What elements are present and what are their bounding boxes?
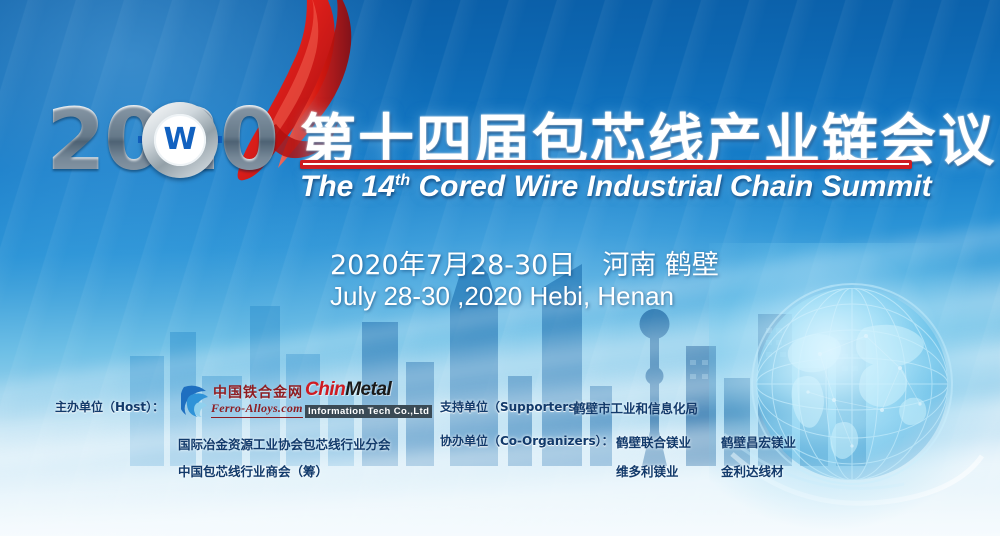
- co-organizer-2: 鹤壁昌宏镁业: [721, 432, 796, 451]
- co-organizer-1: 鹤壁联合镁业: [616, 432, 691, 451]
- co-organizer-4: 金利达线材: [721, 461, 784, 480]
- title-english-rest: Cored Wire Industrial Chain Summit: [410, 170, 931, 203]
- supporters-label: 支持单位（Supporters）：: [440, 398, 593, 415]
- chinmetal-subtitle: Information Tech Co.,Ltd: [305, 405, 432, 418]
- host-extra-line-1: 国际冶金资源工业协会包芯线行业分会: [178, 434, 391, 453]
- globe-halo: [709, 243, 999, 533]
- ferro-alloys-swoosh-icon: [181, 383, 211, 417]
- ferro-alloys-name-en: Ferro-Alloys.com: [211, 401, 303, 416]
- conference-banner: 2020 W 第十四届包芯线产业链会议 The 14th Cored Wire …: [0, 0, 1000, 536]
- supporters-value: 鹤壁市工业和信息化局: [573, 398, 698, 417]
- title-english-prefix: The 14: [300, 170, 395, 203]
- chinmetal-logo: ChinMetal Information Tech Co.,Ltd: [305, 379, 413, 419]
- title-english-ordinal: th: [395, 172, 410, 189]
- year-2020-logo: 2020 W: [46, 96, 306, 184]
- w-letter: W: [163, 125, 196, 155]
- chinmetal-name: ChinMetal: [305, 379, 413, 401]
- ferro-alloys-name-cn: 中国铁合金网: [213, 382, 303, 402]
- chinmetal-name-part1: Chin: [305, 379, 345, 400]
- date-english: July 28-30 ,2020 Hebi, Henan: [330, 281, 674, 312]
- w-circle-mark: W: [142, 102, 218, 178]
- title-divider-rule: [300, 160, 912, 169]
- ferro-alloys-logo: 中国铁合金网 Ferro-Alloys.com: [181, 381, 293, 421]
- host-label: 主办单位（Host）：: [55, 398, 164, 415]
- co-organizer-3: 维多利镁业: [616, 461, 679, 480]
- date-chinese: 2020年7月28-30日 河南 鹤壁: [330, 243, 719, 282]
- title-english: The 14th Cored Wire Industrial Chain Sum…: [300, 170, 932, 204]
- host-extra-line-2: 中国包芯线行业商会（筹）: [178, 461, 328, 480]
- co-organizers-label: 协办单位（Co-Organizers）：: [440, 432, 614, 449]
- w-circle-inner: W: [154, 114, 206, 166]
- chinmetal-name-part2: Metal: [345, 379, 391, 400]
